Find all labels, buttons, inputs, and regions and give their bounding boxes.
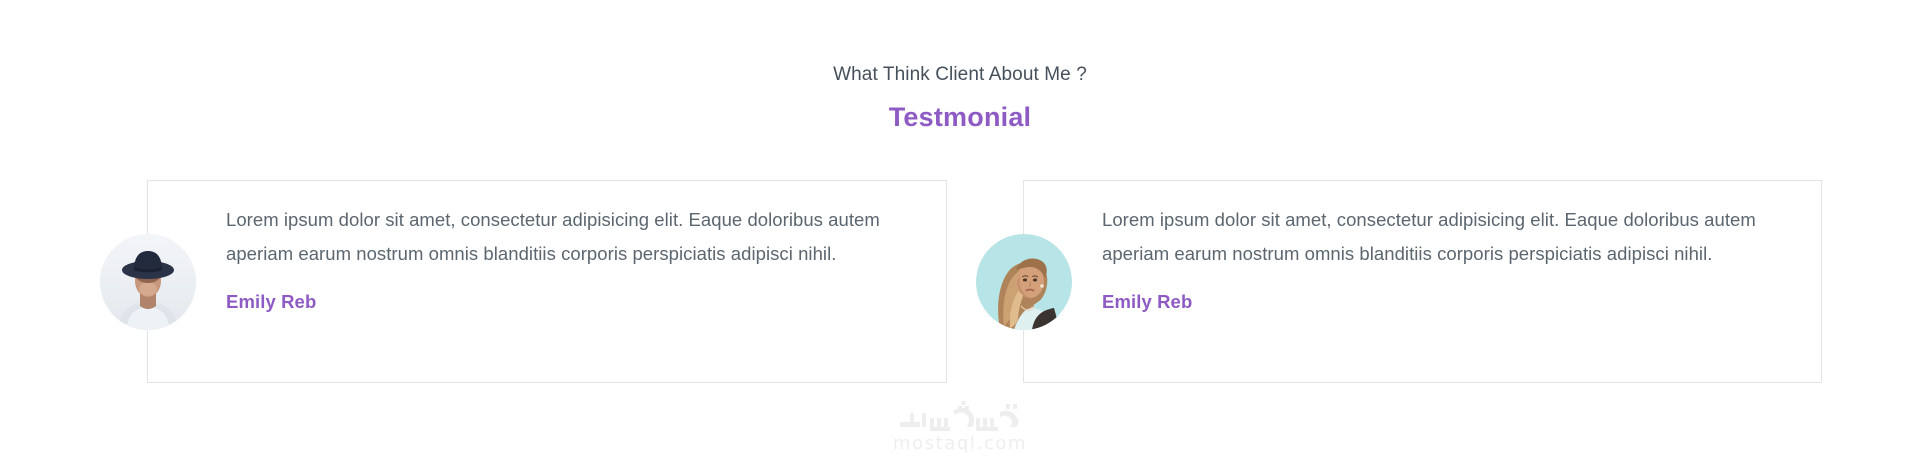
avatar bbox=[976, 234, 1072, 330]
testimonial-card[interactable]: Lorem ipsum dolor sit amet, consectetur … bbox=[147, 180, 947, 383]
testimonial-quote: Lorem ipsum dolor sit amet, consectetur … bbox=[226, 203, 918, 271]
testimonial-author: Emily Reb bbox=[226, 271, 918, 315]
testimonial-content: Lorem ipsum dolor sit amet, consectetur … bbox=[226, 203, 918, 315]
testimonial-content: Lorem ipsum dolor sit amet, consectetur … bbox=[1102, 203, 1792, 315]
watermark-domain: mostaql.com bbox=[0, 432, 1920, 455]
mostaql-logo-icon bbox=[896, 398, 1024, 432]
watermark: mostaql.com bbox=[0, 398, 1920, 455]
testimonial-quote: Lorem ipsum dolor sit amet, consectetur … bbox=[1102, 203, 1792, 271]
testimonial-author: Emily Reb bbox=[1102, 271, 1792, 315]
testimonial-card[interactable]: Lorem ipsum dolor sit amet, consectetur … bbox=[1023, 180, 1822, 383]
testimonials-list: Lorem ipsum dolor sit amet, consectetur … bbox=[0, 180, 1920, 384]
section-subtitle: What Think Client About Me ? bbox=[0, 0, 1920, 88]
section-header: What Think Client About Me ? Testmonial bbox=[0, 0, 1920, 134]
avatar bbox=[100, 234, 196, 330]
section-title: Testmonial bbox=[0, 88, 1920, 134]
